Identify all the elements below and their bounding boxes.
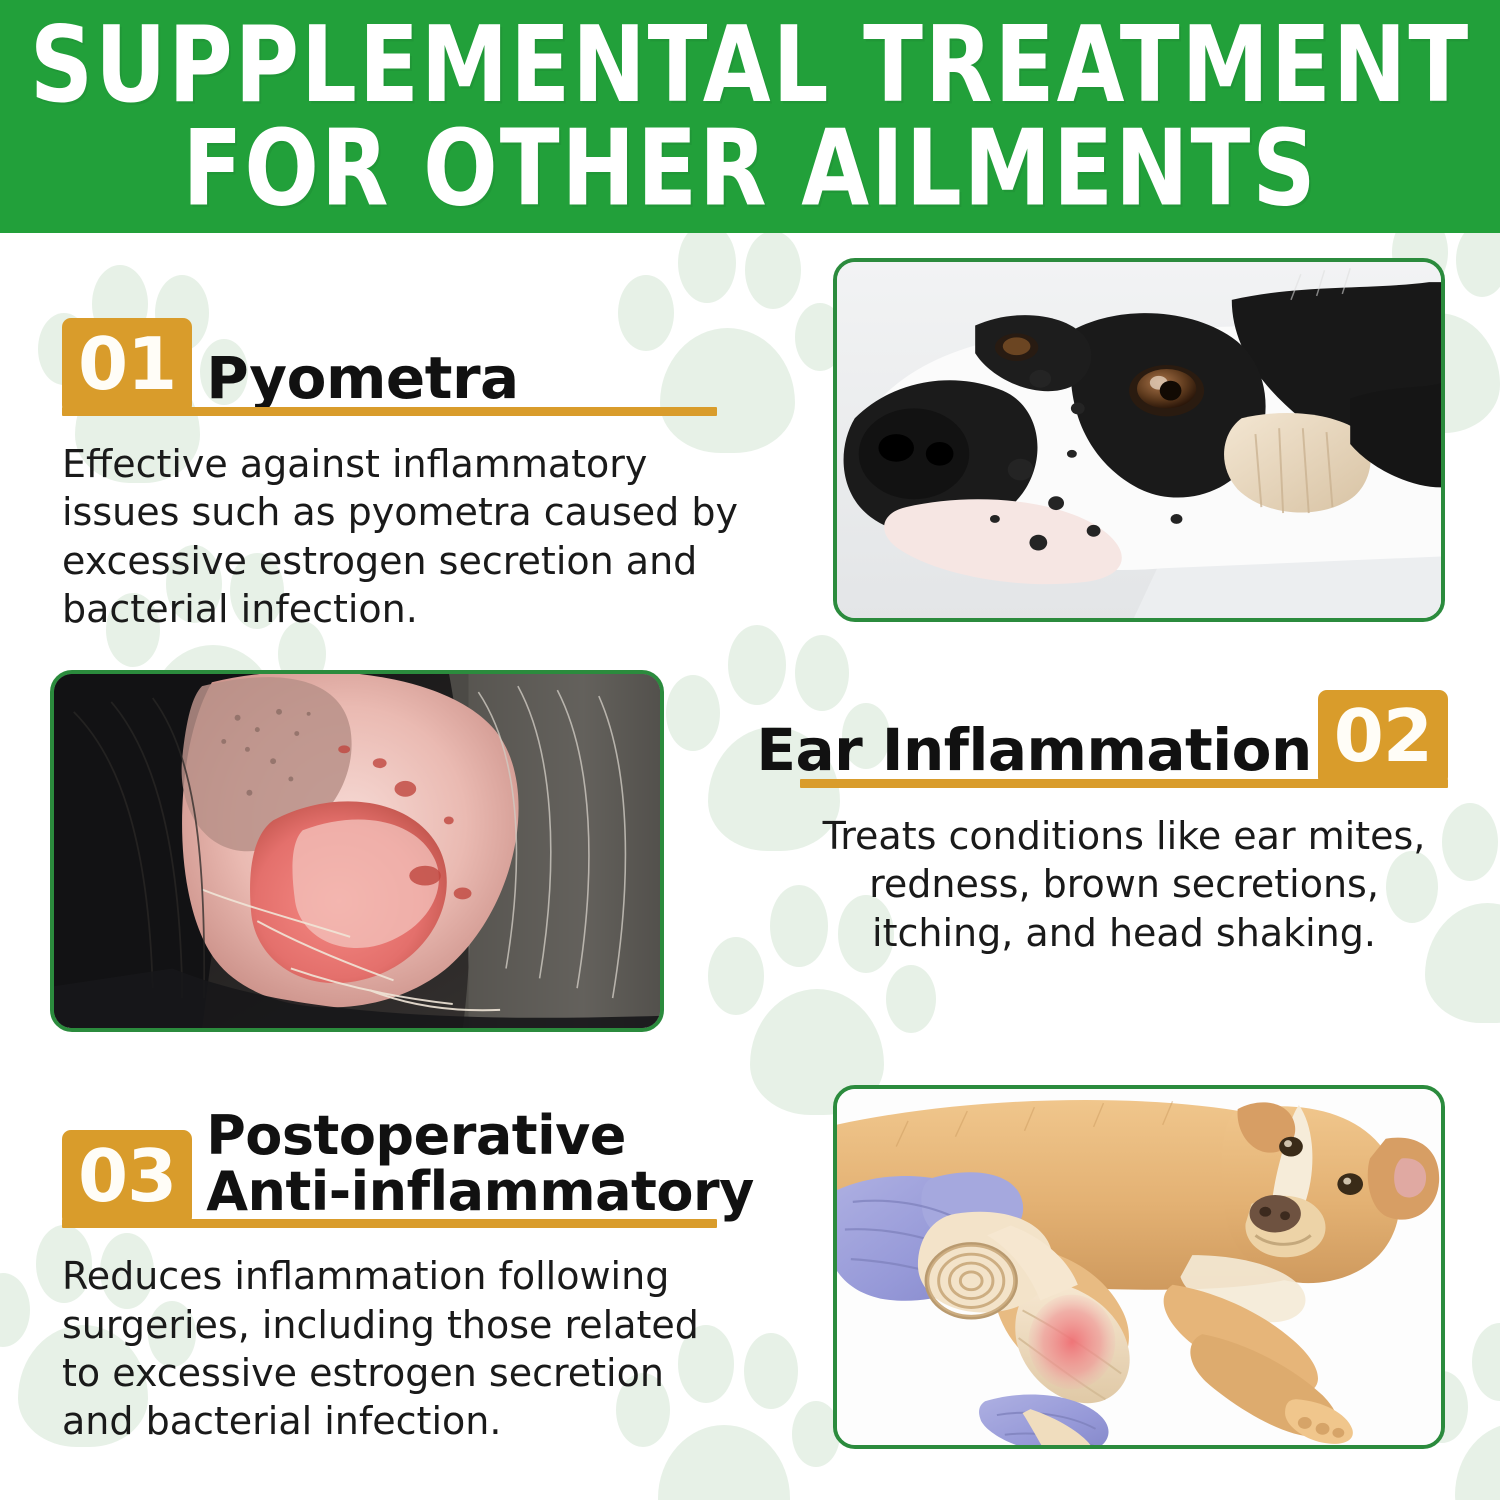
section-03-title: Postoperative Anti-inflammatory: [192, 1108, 760, 1226]
section-03-title-line-1: Postoperative: [206, 1104, 626, 1167]
section-01-number-badge: 01: [62, 318, 192, 414]
page-header: SUPPLEMENTAL TREATMENT FOR OTHER AILMENT…: [0, 0, 1500, 233]
page-title-line-2: FOR OTHER AILMENTS: [30, 119, 1470, 223]
section-02-heading-row: Ear Inflammation 02: [800, 690, 1448, 786]
page-title: SUPPLEMENTAL TREATMENT FOR OTHER AILMENT…: [30, 15, 1470, 223]
section-01-title: Pyometra: [192, 349, 524, 414]
inflamed-dog-ear-photo: [54, 674, 660, 1028]
section-01-image: [833, 258, 1445, 622]
section-02-image: [50, 670, 664, 1032]
dog-lying-down-photo: [837, 262, 1441, 618]
section-01-heading-row: 01 Pyometra: [62, 318, 742, 414]
section-01-text: 01 Pyometra Effective against inflammato…: [62, 318, 742, 633]
section-02-number-badge: 02: [1318, 690, 1448, 786]
section-03-text: 03 Postoperative Anti-inflammatory Reduc…: [62, 1108, 742, 1445]
section-03-number-badge: 03: [62, 1130, 192, 1226]
section-03-image: [833, 1085, 1445, 1449]
section-03-body: Reduces inflammation following surgeries…: [62, 1252, 742, 1445]
section-02-body: Treats conditions like ear mites, rednes…: [800, 812, 1448, 957]
section-02-text: Ear Inflammation 02 Treats conditions li…: [800, 690, 1448, 957]
section-01-body: Effective against inflammatory issues su…: [62, 440, 742, 633]
section-03-heading-row: 03 Postoperative Anti-inflammatory: [62, 1108, 742, 1226]
section-03-title-line-2: Anti-inflammatory: [206, 1160, 754, 1223]
section-02-title: Ear Inflammation: [742, 721, 1317, 786]
vet-bandaging-dog-leg-photo: [837, 1089, 1441, 1445]
